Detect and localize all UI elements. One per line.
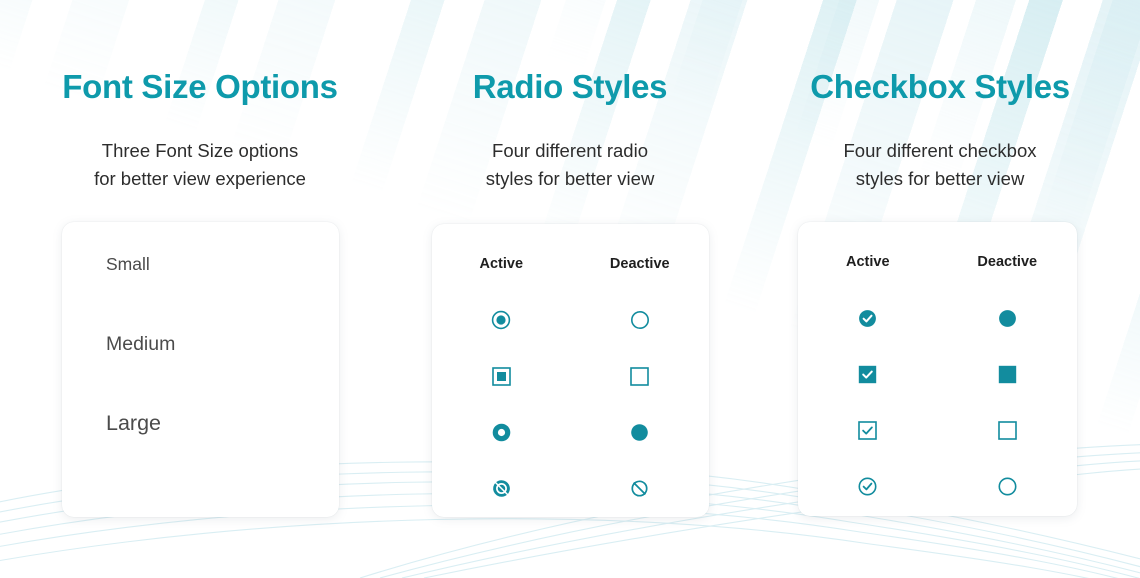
radio-header-deactive: Deactive [571,256,710,272]
showcase-board: Font Size Options Three Font Size option… [0,0,1140,578]
radio-donut-icon[interactable] [492,423,511,442]
circle-filled-icon[interactable] [998,309,1017,328]
checkbox-cell-deactive-4[interactable] [938,477,1078,496]
radio-column-headers: Active Deactive [432,256,709,272]
radio-row-1 [432,292,709,348]
page-title-radio: Radio Styles [400,68,740,106]
checkbox-cell-deactive-3[interactable] [938,421,1078,440]
radio-header-active: Active [432,256,571,272]
subtitle-font-size: Three Font Size options for better view … [0,137,400,193]
column-checkbox-styles: Checkbox Styles Four different checkbox … [740,0,1140,578]
radio-cell-active-2[interactable] [432,367,571,386]
checkbox-row-3 [798,402,1077,458]
checkbox-row-4 [798,458,1077,514]
subtitle-checkbox: Four different checkbox styles for bette… [740,137,1140,193]
radio-square-inset-icon[interactable] [492,367,511,386]
checkbox-cell-active-1[interactable] [798,309,938,328]
font-option-medium[interactable]: Medium [106,335,175,355]
checkbox-row-2 [798,346,1077,402]
check-circle-outline-icon[interactable] [858,477,877,496]
radio-row-3 [432,404,709,460]
checkbox-cell-deactive-1[interactable] [938,309,1078,328]
radio-square-outline-icon[interactable] [630,367,649,386]
radio-cell-deactive-2[interactable] [571,367,710,386]
checkbox-cell-active-3[interactable] [798,421,938,440]
card-checkbox-styles: Active Deactive [798,222,1077,516]
radio-cell-active-4[interactable] [432,478,571,499]
checkbox-header-active: Active [798,254,938,270]
radio-cell-active-1[interactable] [432,310,571,330]
column-font-size-options: Font Size Options Three Font Size option… [0,0,400,578]
check-square-filled-icon[interactable] [858,365,877,384]
radio-cell-deactive-3[interactable] [571,423,710,442]
subtitle-radio: Four different radio styles for better v… [400,137,740,193]
checkbox-cell-active-2[interactable] [798,365,938,384]
checkbox-row-1 [798,290,1077,346]
radio-row-2 [432,348,709,404]
radio-rows [432,292,709,516]
font-size-list: Small Medium Large [106,256,175,435]
check-circle-filled-icon[interactable] [858,309,877,328]
checkbox-rows [798,290,1077,514]
circle-outline-icon[interactable] [998,477,1017,496]
page-title-checkbox: Checkbox Styles [740,68,1140,106]
radio-ring-dot-icon[interactable] [491,310,511,330]
font-option-small[interactable]: Small [106,256,175,274]
radio-slashed-circle-filled-icon[interactable] [491,478,512,499]
page-title-font-size: Font Size Options [0,68,400,106]
checkbox-cell-active-4[interactable] [798,477,938,496]
column-radio-styles: Radio Styles Four different radio styles… [400,0,740,578]
radio-cell-active-3[interactable] [432,423,571,442]
radio-cell-deactive-1[interactable] [571,310,710,330]
checkbox-header-deactive: Deactive [938,254,1078,270]
radio-circle-filled-icon[interactable] [630,423,649,442]
font-option-large[interactable]: Large [106,413,175,435]
radio-slashed-circle-outline-icon[interactable] [629,478,650,499]
checkbox-column-headers: Active Deactive [798,254,1077,270]
card-font-size-options: Small Medium Large [62,222,339,517]
radio-circle-outline-icon[interactable] [630,310,650,330]
check-square-outline-icon[interactable] [858,421,877,440]
radio-cell-deactive-4[interactable] [571,478,710,499]
radio-row-4 [432,460,709,516]
square-outline-icon[interactable] [998,421,1017,440]
card-radio-styles: Active Deactive [432,224,709,517]
square-filled-icon[interactable] [998,365,1017,384]
checkbox-cell-deactive-2[interactable] [938,365,1078,384]
